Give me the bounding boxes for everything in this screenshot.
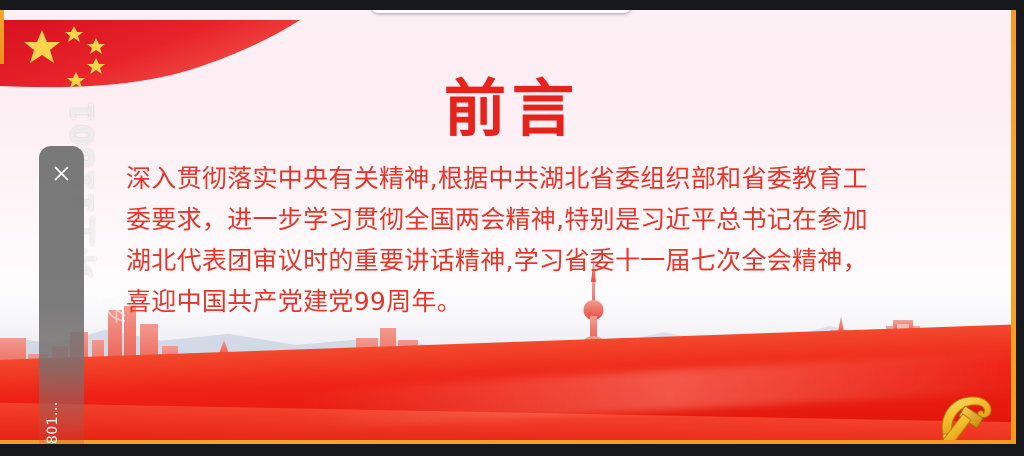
- close-icon: [53, 165, 70, 182]
- window-edge-right: [1016, 0, 1024, 456]
- window-top-bar: [0, 0, 1024, 10]
- slide-border-left: [0, 10, 4, 64]
- body-line: 湖北代表团审议时的重要讲话精神,学习省委十一届七次全会精神，: [126, 240, 916, 281]
- screen-root: 前言 深入贯彻落实中央有关精神,根据中共湖北省委组织部和省委教育工 委要求，进一…: [0, 0, 1024, 456]
- close-button[interactable]: [39, 154, 84, 192]
- chinese-flag: [0, 20, 310, 125]
- speaker-status-panel[interactable]: 说话中：环工11801...: [39, 146, 84, 451]
- presentation-slide: 前言 深入贯彻落实中央有关精神,根据中共湖北省委组织部和省委教育工 委要求，进一…: [0, 10, 1024, 444]
- body-line: 深入贯彻落实中央有关精神,根据中共湖北省委组织部和省委教育工: [126, 158, 916, 199]
- cpc-party-emblem: [925, 388, 1001, 444]
- body-line: 委要求，进一步学习贯彻全国两会精神,特别是习近平总书记在参加: [126, 199, 916, 240]
- body-line: 喜迎中国共产党建党99周年。: [126, 281, 916, 322]
- speaker-status-label: 说话中：环工11801...: [42, 320, 62, 456]
- slide-body-text: 深入贯彻落实中央有关精神,根据中共湖北省委组织部和省委教育工 委要求，进一步学习…: [126, 158, 916, 322]
- window-bottom-bar: [0, 444, 1024, 456]
